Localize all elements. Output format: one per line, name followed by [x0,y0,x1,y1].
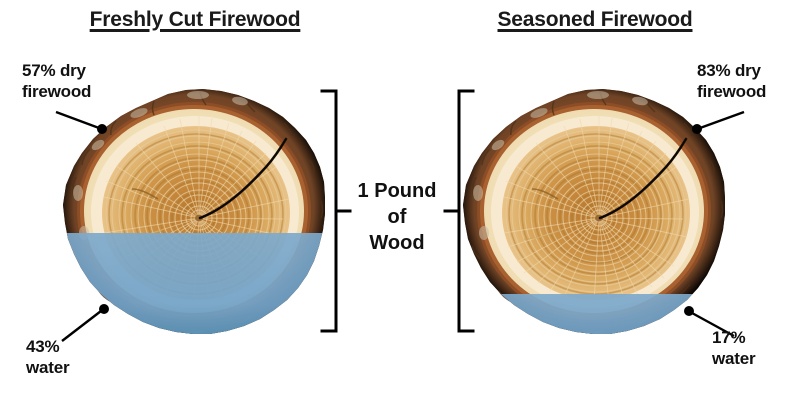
water-overlay-fresh [40,233,360,393]
callout-fresh-dry-percent: 57% dry firewood [22,60,91,102]
callout-seasoned-dry-percent: 83% dry firewood [697,60,766,102]
title-freshly-cut-firewood: Freshly Cut Firewood [0,8,390,32]
infographic-canvas: Freshly Cut Firewood Seasoned Firewood 5… [0,0,800,400]
log-fresh-cut [40,89,360,393]
center-label-one-pound-of-wood: 1 Pound of Wood [347,178,447,256]
callout-seasoned-water-percent: 17% water [712,327,755,369]
title-seasoned-firewood: Seasoned Firewood [400,8,790,32]
callout-fresh-water-percent: 43% water [26,336,69,378]
